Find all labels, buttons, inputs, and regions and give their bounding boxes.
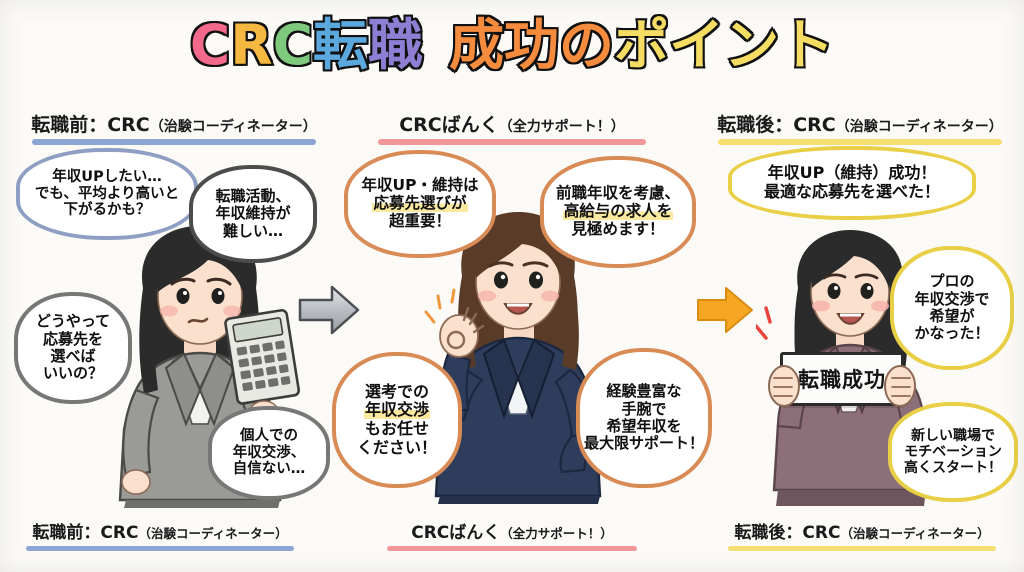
bubble-line: 難しい… (223, 223, 283, 240)
bubble-line-highlight: 高給与の求人を (563, 203, 674, 221)
bubble-line: 応募先を (43, 331, 103, 348)
bubble-line: モチベーション (904, 444, 1002, 460)
bubble-line: 個人での (240, 428, 298, 445)
bubble-line: 見極めます！ (571, 221, 664, 239)
bubble-result-negotiation: プロの 年収交渉で 希望が かなった！ (890, 246, 1014, 370)
bubble-line: 年収UPしたい… (52, 169, 161, 186)
title-char: ン (724, 14, 779, 76)
column-header-before-underline (32, 139, 316, 145)
bubble-line: 超重要！ (389, 213, 451, 231)
bubble-line-highlight: 年収交渉 (364, 401, 430, 420)
bubble-line: 年収UP（維持）成功！ (768, 164, 937, 183)
footer-label-before-main: 転職前：CRC (32, 523, 138, 543)
bubble-line: 最大限サポート！ (584, 435, 704, 452)
bubble-point-negotiation-support: 選考での 年収交渉 もお任せ ください！ (332, 352, 462, 488)
sign-hands (766, 356, 918, 414)
bubble-line: いいの？ (43, 365, 103, 382)
arrow-bank-to-after (694, 284, 756, 336)
bubble-line: 新しい職場で (911, 428, 995, 444)
footer-label-after-underline (728, 546, 996, 551)
footer-label-crcbank-sub: （全力サポート！） (500, 526, 613, 541)
title-char: C (190, 14, 230, 76)
bubble-line: どうやって (36, 313, 110, 330)
footer-label-before-sub: （治験コーディネーター） (138, 526, 287, 541)
bubble-worry-keep-salary: 転職活動、 年収維持が 難しい… (189, 165, 317, 263)
bubble-line: 選べば (50, 348, 95, 365)
bubble-worry-salary-up: 年収UPしたい… でも、平均より高いと 下がるかも？ (16, 148, 198, 240)
footer-label-before: 転職前：CRC（治験コーディネーター） (10, 518, 310, 551)
title-char: 転 (313, 14, 368, 76)
footer-label-crcbank-main: CRCばんく (411, 523, 500, 543)
column-header-crcbank-main: CRCばんく (399, 114, 499, 136)
bubble-line-highlight: 応募先選びが (372, 195, 467, 213)
footer-label-crcbank-underline (387, 546, 637, 551)
footer-label-after-main: 転職後：CRC (734, 523, 840, 543)
bubble-line: 年収UP・維持は (362, 177, 479, 195)
bubble-line: でも、平均より高いと (35, 186, 179, 203)
bubble-line: 年収交渉、 (233, 445, 306, 462)
bubble-worry-negotiation: 個人での 年収交渉、 自信ない… (208, 406, 330, 500)
footer-label-after: 転職後：CRC（治験コーディネーター） (712, 518, 1012, 551)
bubble-line: 年収維持が (215, 205, 290, 222)
title-char: R (230, 14, 272, 76)
bubble-line: 手腕で (621, 401, 666, 418)
bubble-line: 前職年収を考慮、 (556, 185, 680, 203)
bubble-line: 希望が (929, 308, 974, 325)
title-char: の (559, 14, 614, 76)
footer-label-crcbank: CRCばんく（全力サポート！） (372, 518, 652, 551)
bubble-line: 転職活動、 (215, 188, 290, 205)
column-header-before-main: 転職前：CRC (31, 114, 150, 136)
bubble-line: 自信ない… (233, 461, 306, 478)
bubble-line: 経験豊富な (606, 383, 681, 400)
bubble-result-salary-up: 年収UP（維持）成功！ 最適な応募先を選べた！ (728, 146, 976, 220)
title-char: 職 (368, 14, 423, 76)
column-header-crcbank-sub: （全力サポート！） (499, 119, 625, 135)
column-header-before-sub: （治験コーディネーター） (150, 119, 317, 135)
bubble-point-high-pay-jobs: 前職年収を考慮、 高給与の求人を 見極めます！ (540, 156, 696, 268)
arrow-before-to-bank (296, 282, 362, 338)
bubble-line: 選考での (365, 383, 429, 402)
column-header-crcbank-underline (378, 139, 646, 145)
page-title: CRC転職成功のポイント (0, 14, 1024, 76)
bubble-line: かなった！ (914, 325, 989, 342)
column-header-crcbank: CRCばんく（全力サポート！） (352, 110, 672, 145)
column-header-after: 転職後：CRC（治験コーディネーター） (700, 110, 1020, 145)
title-char: C (273, 14, 313, 76)
bubble-line: プロの (929, 273, 974, 290)
title-char: ポ (614, 14, 669, 76)
title-char: 成 (449, 14, 504, 76)
bubble-line: ください！ (357, 439, 437, 458)
title-char: イ (669, 14, 724, 76)
footer-label-before-underline (26, 546, 294, 551)
bubble-line: 最適な応募先を選べた！ (764, 183, 940, 202)
column-header-after-underline (718, 139, 1002, 145)
footer-label-after-sub: （治験コーディネーター） (840, 526, 989, 541)
bubble-point-choose-matters: 年収UP・維持は 応募先選びが 超重要！ (344, 150, 496, 258)
column-header-before: 転職前：CRC（治験コーディネーター） (14, 110, 334, 145)
bubble-line: 下がるかも？ (64, 202, 151, 219)
column-header-after-sub: （治験コーディネーター） (836, 119, 1003, 135)
bubble-line: 高くスタート！ (904, 460, 1002, 476)
bubble-line: 希望年収を (606, 418, 681, 435)
title-char: ト (779, 14, 834, 76)
bubble-line: 年収交渉で (914, 291, 989, 308)
infographic-canvas: CRC転職成功のポイント 転職前：CRC（治験コーディネーター） CRCばんく（… (0, 0, 1024, 572)
bubble-result-motivation: 新しい職場で モチベーション 高くスタート！ (888, 402, 1018, 502)
bubble-worry-how-to-choose: どうやって 応募先を 選べば いいの？ (14, 292, 132, 404)
column-header-after-main: 転職後：CRC (717, 114, 836, 136)
bubble-line: もお任せ (365, 420, 429, 439)
title-char: 功 (504, 14, 559, 76)
bubble-point-max-support: 経験豊富な 手腕で 希望年収を 最大限サポート！ (576, 348, 712, 488)
